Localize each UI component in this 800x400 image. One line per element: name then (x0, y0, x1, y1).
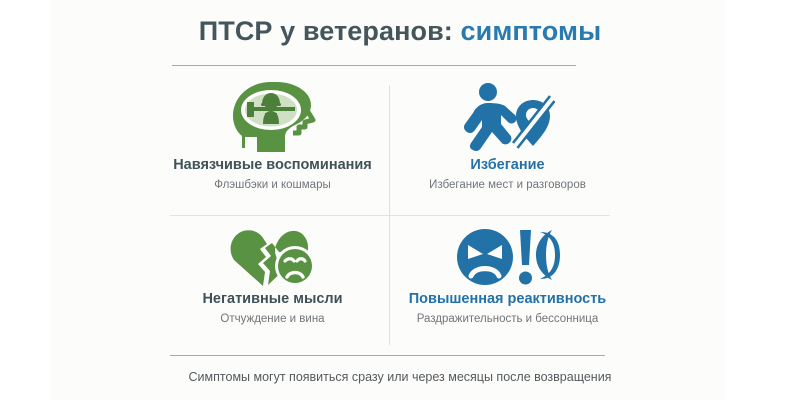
footer-note: Симптомы могут появиться сразу или через… (0, 369, 800, 386)
symptom-card-negative-thoughts[interactable]: Негативные мысли Отчуждение и вина (160, 226, 385, 356)
symptom-title: Повышенная реактивность (395, 290, 620, 308)
header-divider (172, 65, 576, 66)
symptom-subtitle: Раздражительность и бессонница (395, 311, 620, 327)
symptom-card-avoidance[interactable]: Избегание Избегание мест и разговоров (395, 78, 620, 208)
page-title-main: ПТСР у ветеранов: (199, 16, 453, 46)
symptom-card-intrusive-memories[interactable]: Навязчивые воспоминания Флэшбэки и кошма… (160, 78, 385, 208)
page-title-accent: симптомы (461, 16, 602, 46)
symptom-subtitle: Флэшбэки и кошмары (160, 177, 385, 193)
walking-person-no-location-icon (395, 78, 620, 156)
page-header: ПТСР у ветеранов: симптомы (0, 14, 800, 48)
symptom-title: Избегание (395, 156, 620, 174)
footer-divider (170, 355, 605, 356)
head-soldier-icon (160, 78, 385, 156)
page-title: ПТСР у ветеранов: симптомы (0, 14, 800, 48)
symptom-title: Навязчивые воспоминания (160, 156, 385, 174)
angry-face-exclamation-moon-icon (395, 226, 620, 290)
symptom-subtitle: Избегание мест и разговоров (395, 177, 620, 193)
symptom-title: Негативные мысли (160, 290, 385, 308)
infographic-canvas: ПТСР у ветеранов: симптомы (0, 0, 800, 400)
broken-heart-sad-face-icon (160, 226, 385, 290)
symptom-grid: Навязчивые воспоминания Флэшбэки и кошма… (160, 78, 620, 346)
symptom-subtitle: Отчуждение и вина (160, 311, 385, 327)
symptom-card-hyperarousal[interactable]: Повышенная реактивность Раздражительност… (395, 226, 620, 356)
page-footer: Симптомы могут появиться сразу или через… (0, 369, 800, 386)
